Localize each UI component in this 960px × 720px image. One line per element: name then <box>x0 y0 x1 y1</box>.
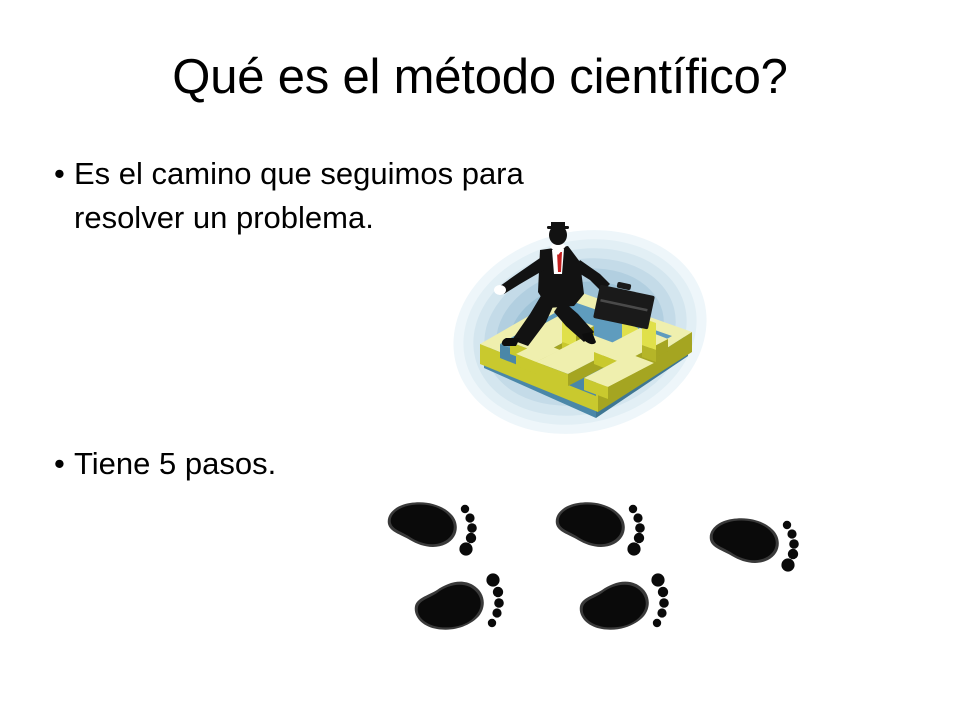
footprint-3 <box>702 512 810 574</box>
bullet-marker-icon: • <box>48 442 74 486</box>
bullet-item-2: • Tiene 5 pasos. <box>48 442 468 486</box>
footprint-5 <box>572 570 680 638</box>
slide-title: Qué es el método científico? <box>0 52 960 103</box>
presentation-slide: Qué es el método científico? • Es el cam… <box>0 0 960 720</box>
bullet-marker-icon: • <box>48 152 74 196</box>
footprint-1 <box>380 496 488 558</box>
footprint-4 <box>407 570 515 638</box>
footprint-2 <box>548 496 656 558</box>
maze-businessman-image <box>444 222 716 438</box>
bullet-text-2: Tiene 5 pasos. <box>74 442 276 486</box>
